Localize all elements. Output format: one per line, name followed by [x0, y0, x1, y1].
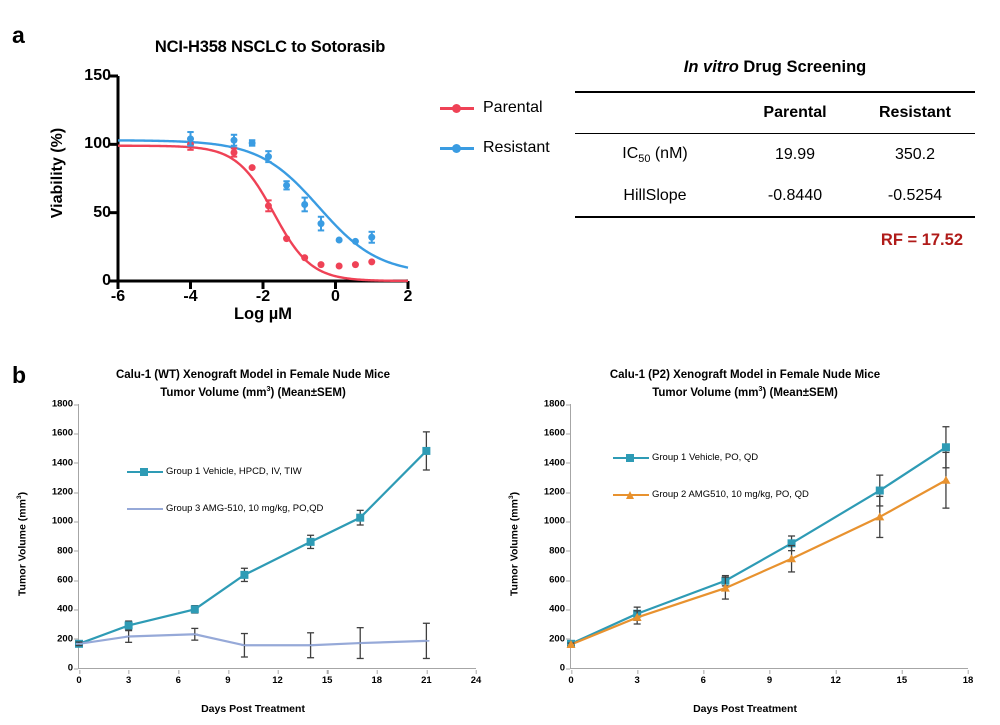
legend-label-resistant: Resistant — [483, 139, 550, 157]
x-axis-tick: 15 — [322, 675, 333, 686]
calu1-p2-title: Calu-1 (P2) Xenograft Model in Female Nu… — [500, 368, 990, 400]
y-axis-tick: 1400 — [544, 457, 565, 468]
calu1-wt-title-line2-pre: Tumor Volume (mm — [160, 387, 266, 399]
row-label-hillslope: HillSlope — [575, 176, 735, 217]
dose-x-tick: -6 — [111, 288, 125, 306]
ic50-parental-value: 19.99 — [735, 134, 855, 177]
dose-x-tick: 2 — [404, 288, 413, 306]
x-axis-tick: 9 — [225, 675, 230, 686]
ylab-pre-r: Tumor Volume (mm — [508, 499, 520, 596]
calu1-p2-xenograft-chart: Calu-1 (P2) Xenograft Model in Female Nu… — [500, 366, 990, 721]
y-axis-tick: 1200 — [52, 487, 73, 498]
legend-label-group1: Group 1 Vehicle, PO, QD — [652, 452, 758, 463]
calu1-p2-svg — [571, 404, 968, 668]
drug-screening-title-rest: Drug Screening — [739, 58, 866, 76]
y-axis-tick: 400 — [57, 604, 73, 615]
dose-response-y-axis-label: Viability (%) — [49, 128, 67, 218]
x-axis-tick: 18 — [371, 675, 382, 686]
row-label-ic50: IC50 (nM) — [575, 134, 735, 177]
legend-label-group1: Group 1 Vehicle, HPCD, IV, TIW — [166, 466, 302, 477]
x-axis-tick: 21 — [421, 675, 432, 686]
panel-a-label: a — [12, 22, 25, 49]
drug-screening-table: Parental Resistant IC50 (nM) 19.99 350.2… — [575, 91, 975, 218]
x-axis-tick: 6 — [176, 675, 181, 686]
legend-item-parental: Parental — [440, 88, 580, 128]
table-header-parental: Parental — [735, 92, 855, 134]
y-axis-tick: 800 — [549, 545, 565, 556]
dose-y-tick: 0 — [102, 272, 111, 290]
ic50-units: (nM) — [650, 145, 687, 162]
legend-item-group2: Group 2 AMG510, 10 mg/kg, PO, QD — [613, 489, 809, 500]
y-axis-tick: 200 — [57, 633, 73, 644]
legend-item-resistant: Resistant — [440, 128, 580, 168]
parental-marker-icon — [440, 102, 474, 114]
legend-label-group3: Group 3 AMG-510, 10 mg/kg, PO,QD — [166, 503, 323, 514]
dose-y-tick: 100 — [84, 135, 111, 153]
calu1-p2-y-axis-label: Tumor Volume (mm3) — [508, 491, 521, 595]
table-row: HillSlope -0.8440 -0.5254 — [575, 176, 975, 217]
dose-x-tick: -2 — [256, 288, 270, 306]
calu1-wt-y-axis-label: Tumor Volume (mm3) — [16, 491, 29, 595]
dose-response-legend: Parental Resistant — [440, 88, 580, 168]
dose-x-tick: 0 — [331, 288, 340, 306]
x-axis-tick: 3 — [635, 675, 640, 686]
ylab-pre-l: Tumor Volume (mm — [16, 499, 28, 596]
table-header-resistant: Resistant — [855, 92, 975, 134]
legend-item-group1: Group 1 Vehicle, PO, QD — [613, 452, 809, 463]
ic50-main: IC — [622, 145, 638, 162]
calu1-p2-x-axis-label: Days Post Treatment — [500, 703, 990, 715]
drug-screening-title: In vitro Drug Screening — [575, 58, 975, 77]
calu1-wt-legend: Group 1 Vehicle, HPCD, IV, TIW Group 3 A… — [127, 466, 323, 540]
legend-label-group2: Group 2 AMG510, 10 mg/kg, PO, QD — [652, 489, 809, 500]
calu1-wt-title: Calu-1 (WT) Xenograft Model in Female Nu… — [8, 368, 498, 400]
table-row: IC50 (nM) 19.99 350.2 — [575, 134, 975, 177]
x-axis-tick: 24 — [471, 675, 482, 686]
y-axis-tick: 0 — [68, 663, 73, 674]
calu1-p2-plot-area: Group 1 Vehicle, PO, QD Group 2 AMG510, … — [570, 404, 968, 669]
legend-item-group1: Group 1 Vehicle, HPCD, IV, TIW — [127, 466, 323, 477]
group1-marker-icon — [127, 467, 163, 477]
y-axis-tick: 1200 — [544, 487, 565, 498]
x-axis-tick: 0 — [568, 675, 573, 686]
ylab-post-r: ) — [508, 491, 520, 495]
calu1-wt-title-line1: Calu-1 (WT) Xenograft Model in Female Nu… — [116, 369, 390, 381]
y-axis-tick: 600 — [57, 575, 73, 586]
y-axis-tick: 600 — [549, 575, 565, 586]
y-axis-tick: 1000 — [544, 516, 565, 527]
calu1-p2-title-line1: Calu-1 (P2) Xenograft Model in Female Nu… — [610, 369, 880, 381]
ylab-sup-l: 3 — [16, 495, 23, 499]
legend-label-parental: Parental — [483, 99, 543, 117]
y-axis-tick: 200 — [549, 633, 565, 644]
calu1-p2-title-line2-pre: Tumor Volume (mm — [652, 387, 758, 399]
y-axis-tick: 1800 — [52, 399, 73, 410]
ic50-resistant-value: 350.2 — [855, 134, 975, 177]
group2-marker-icon — [613, 490, 649, 500]
y-axis-tick: 800 — [57, 545, 73, 556]
table-header-blank — [575, 92, 735, 134]
x-axis-tick: 12 — [272, 675, 283, 686]
x-axis-tick: 15 — [897, 675, 908, 686]
x-axis-tick: 3 — [126, 675, 131, 686]
ic50-sub: 50 — [638, 153, 650, 165]
y-axis-tick: 1800 — [544, 399, 565, 410]
calu1-p2-title-line2-post: ) (Mean±SEM) — [762, 387, 837, 399]
y-axis-tick: 1600 — [52, 428, 73, 439]
dose-response-x-axis-label: Log µM — [234, 305, 292, 324]
y-axis-tick: 0 — [560, 663, 565, 674]
resistant-marker-icon — [440, 142, 474, 154]
calu1-p2-legend: Group 1 Vehicle, PO, QD Group 2 AMG510, … — [613, 452, 809, 526]
y-axis-tick: 1600 — [544, 428, 565, 439]
drug-screening-title-italic: In vitro — [684, 58, 739, 76]
dose-response-svg — [118, 76, 408, 281]
x-axis-tick: 18 — [963, 675, 974, 686]
hillslope-parental-value: -0.8440 — [735, 176, 855, 217]
group3-marker-icon — [127, 504, 163, 514]
dose-response-chart: NCI-H358 NSCLC to Sotorasib Viability (%… — [40, 18, 460, 308]
ylab-post-l: ) — [16, 491, 28, 495]
calu1-wt-x-axis-label: Days Post Treatment — [8, 703, 498, 715]
x-axis-tick: 12 — [830, 675, 841, 686]
x-axis-tick: 6 — [701, 675, 706, 686]
legend-item-group3: Group 3 AMG-510, 10 mg/kg, PO,QD — [127, 503, 323, 514]
dose-response-title: NCI-H358 NSCLC to Sotorasib — [110, 38, 430, 57]
calu1-wt-xenograft-chart: Calu-1 (WT) Xenograft Model in Female Nu… — [8, 366, 498, 721]
resistance-factor-note: RF = 17.52 — [575, 218, 975, 250]
y-axis-tick: 1000 — [52, 516, 73, 527]
calu1-wt-plot-area: Group 1 Vehicle, HPCD, IV, TIW Group 3 A… — [78, 404, 476, 669]
dose-y-tick: 50 — [93, 204, 111, 222]
dose-x-tick: -4 — [183, 288, 197, 306]
ylab-sup-r: 3 — [508, 495, 515, 499]
calu1-wt-title-line2-post: ) (Mean±SEM) — [270, 387, 345, 399]
table-header-row: Parental Resistant — [575, 92, 975, 134]
x-axis-tick: 0 — [76, 675, 81, 686]
y-axis-tick: 1400 — [52, 457, 73, 468]
x-axis-tick: 9 — [767, 675, 772, 686]
hillslope-resistant-value: -0.5254 — [855, 176, 975, 217]
group1-marker-icon — [613, 453, 649, 463]
drug-screening-table-block: In vitro Drug Screening Parental Resista… — [575, 58, 975, 250]
dose-response-plot-area: 050100150-6-4-202 — [118, 76, 408, 281]
y-axis-tick: 400 — [549, 604, 565, 615]
dose-y-tick: 150 — [84, 67, 111, 85]
